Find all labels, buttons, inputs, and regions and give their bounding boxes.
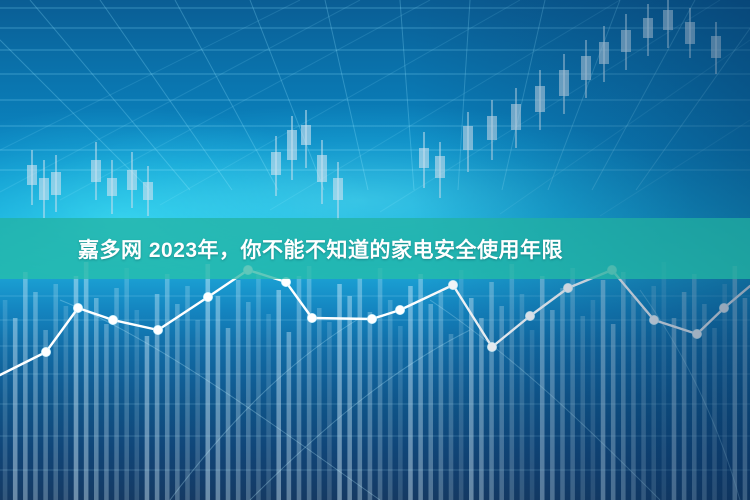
promo-banner: 嘉多网 2023年，你不能不知道的家电安全使用年限 [0,0,750,500]
title-band: 嘉多网 2023年，你不能不知道的家电安全使用年限 [0,218,750,279]
page-title: 嘉多网 2023年，你不能不知道的家电安全使用年限 [0,234,563,264]
